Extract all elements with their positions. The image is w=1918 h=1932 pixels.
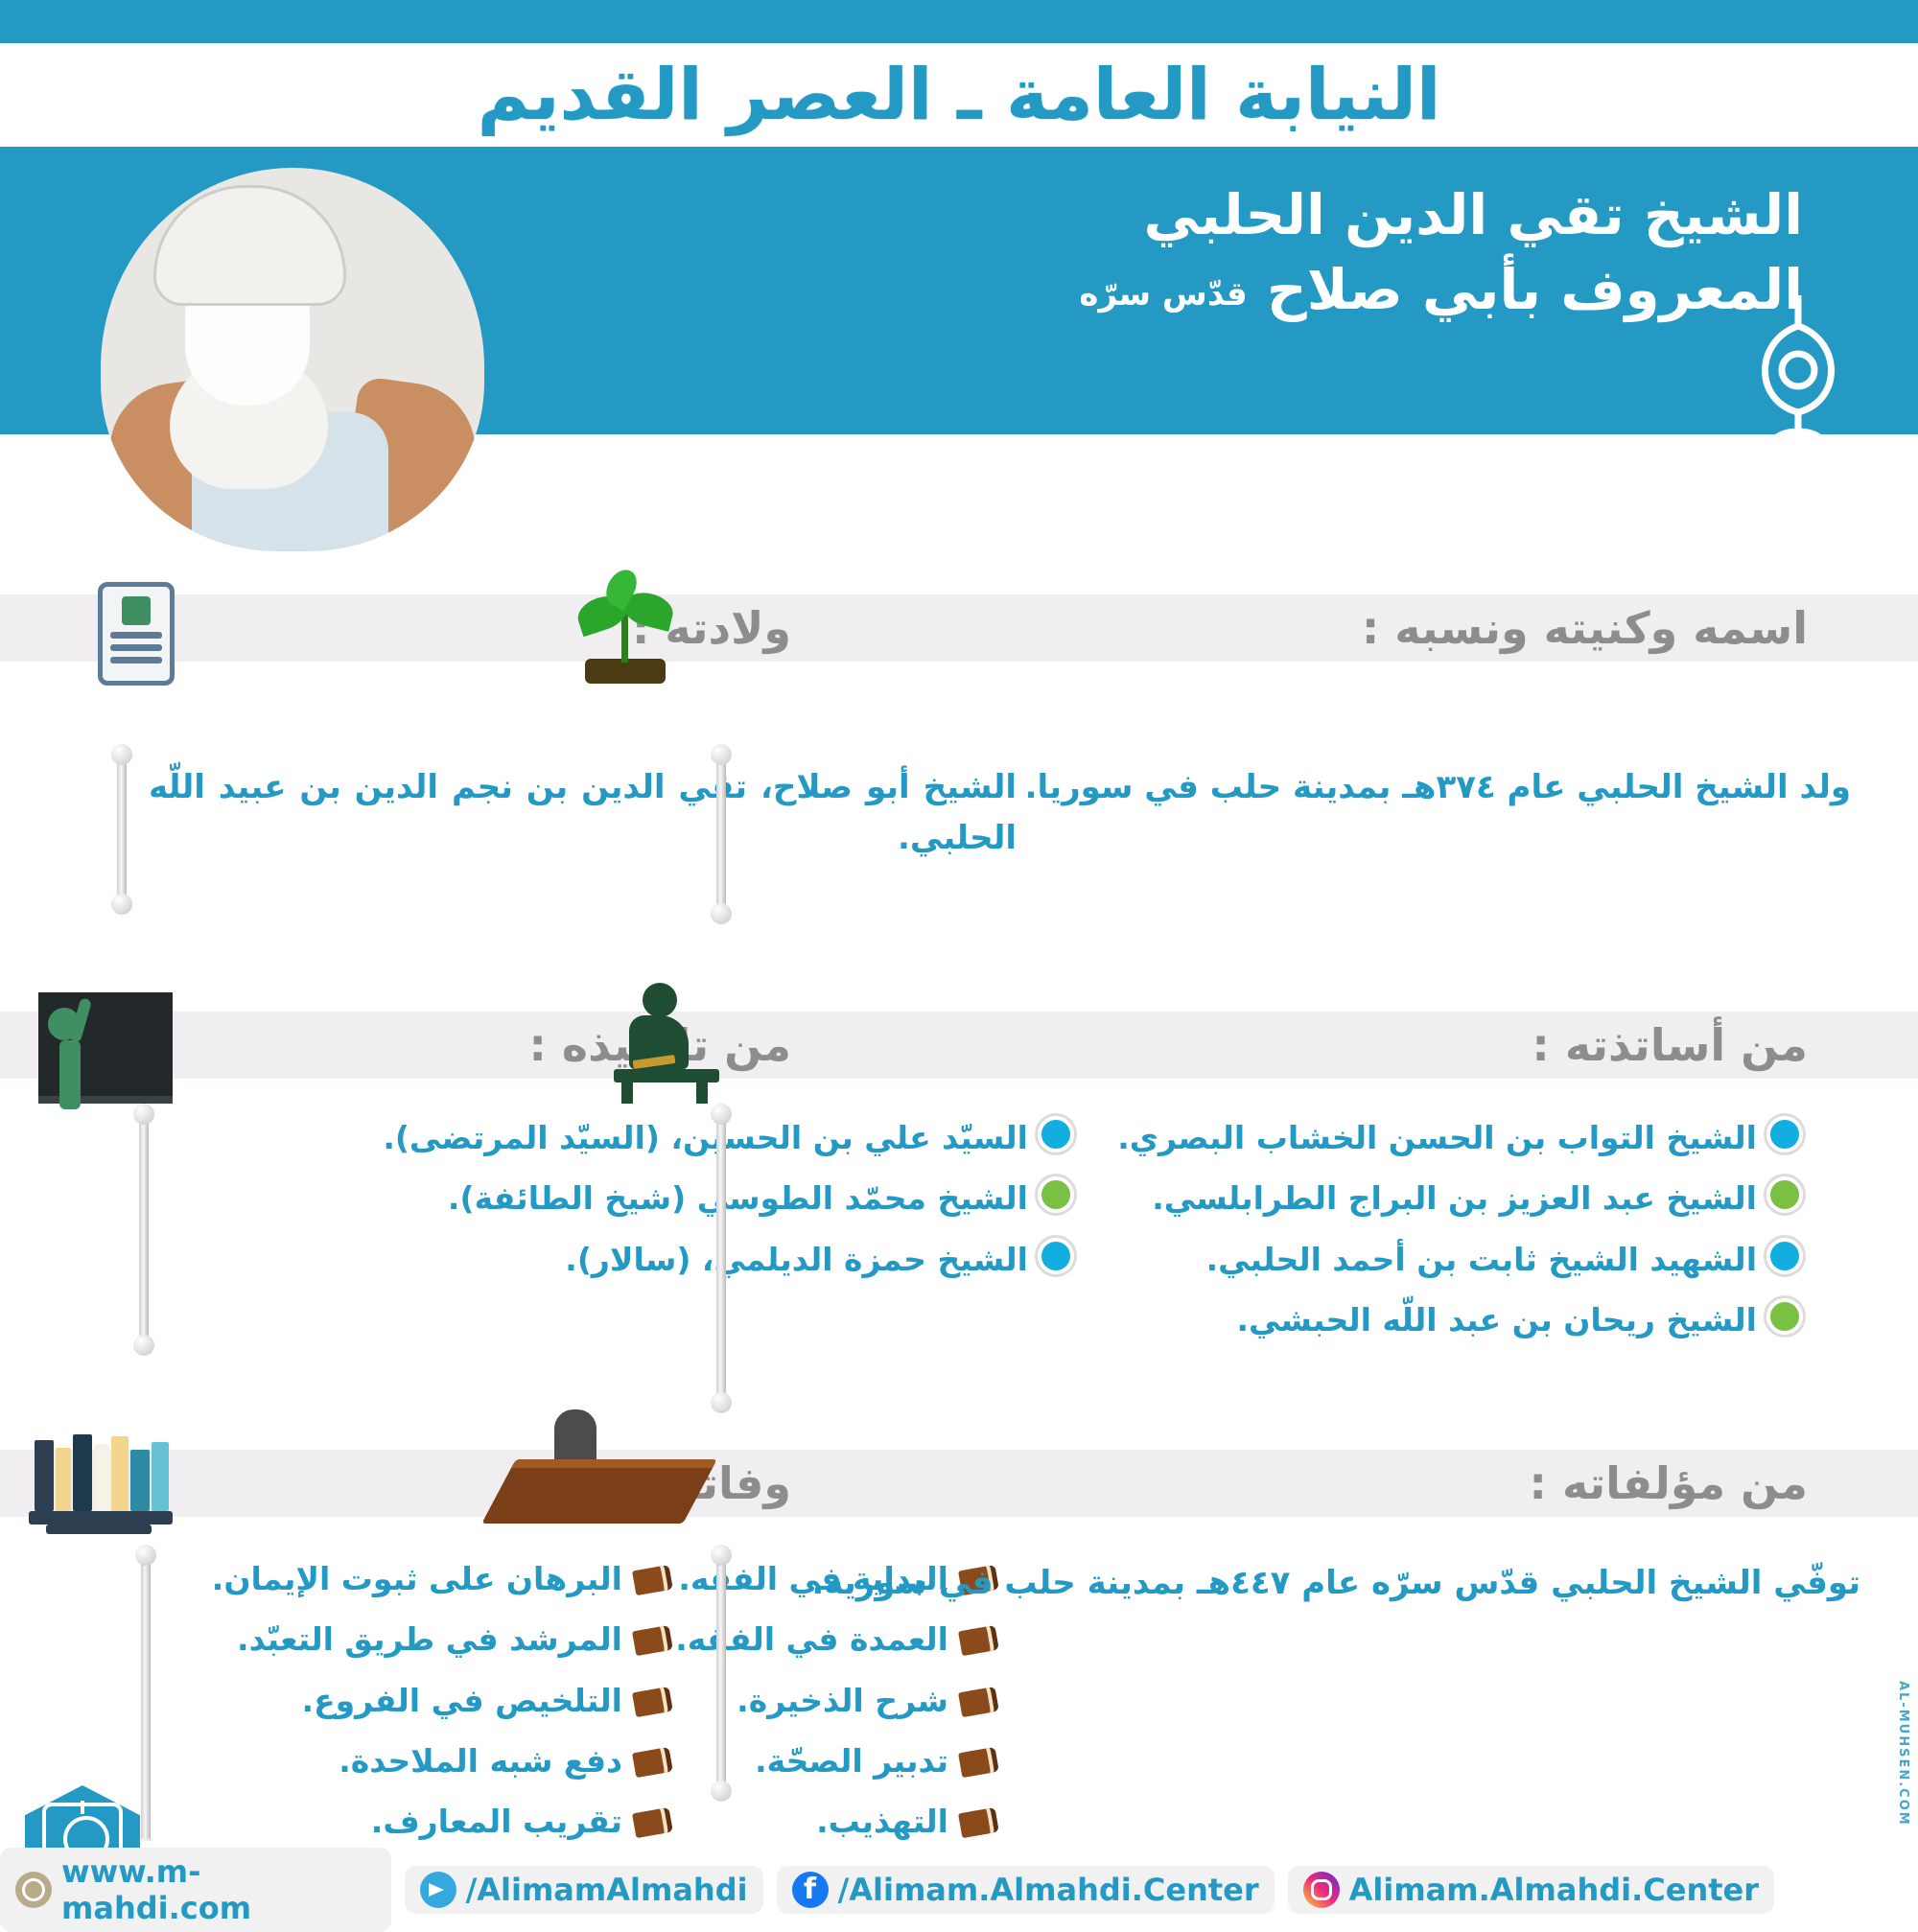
list-item-label: الشيخ ريحان بن عبد اللّه الحبشي.	[1236, 1301, 1757, 1338]
grave-icon	[499, 1409, 705, 1520]
divider-rod	[716, 757, 726, 911]
person-honorific: قدّس سرّه	[1079, 275, 1247, 314]
list-item-label: الشيخ عبد العزيز بن البراج الطرابلسي.	[1152, 1179, 1757, 1217]
book-icon	[958, 1807, 999, 1838]
logo-ray	[81, 1801, 84, 1814]
shelf-book	[35, 1440, 54, 1511]
work-item-label: تدبير الصحّة.	[755, 1742, 948, 1780]
list-item-label: الشيخ التواب بن الحسن الخشاب البصري.	[1117, 1119, 1757, 1156]
student-desk-icon	[614, 983, 724, 1107]
bullet-green-icon	[1766, 1298, 1803, 1335]
top-accent-bar	[0, 0, 1918, 43]
portrait-image	[101, 168, 484, 551]
id-card-line	[110, 632, 162, 639]
blackboard-teacher-icon	[5, 992, 173, 1103]
work-item: تدبير الصحّة.	[643, 1731, 997, 1791]
infographic-page: النيابة العامة ـ العصر القديم الشيخ تقي …	[0, 0, 1918, 1918]
work-item: العمدة في الفقه.	[643, 1609, 997, 1669]
work-item-label: دفع شبه الملاحدة.	[339, 1742, 622, 1780]
portrait-turban	[153, 185, 346, 306]
bookshelf-icon	[29, 1429, 177, 1525]
bullet-green-icon	[1766, 1176, 1803, 1213]
divider-rod	[117, 757, 127, 901]
list-item: الشيخ عبد العزيز بن البراج الطرابلسي.	[748, 1168, 1803, 1228]
globe-icon[interactable]	[15, 1872, 52, 1908]
shelf-plank	[29, 1511, 173, 1525]
section-title-works: من مؤلفاته :	[1530, 1450, 1808, 1517]
page-title: النيابة العامة ـ العصر القديم	[478, 59, 1441, 130]
divider-rod	[716, 1117, 726, 1400]
list-item: الشيخ التواب بن الحسن الخشاب البصري.	[748, 1107, 1803, 1168]
footer-link-label: /Alimam.Almahdi.Center	[838, 1872, 1259, 1908]
footer: www.m-mahdi.com/AlimamAlmahdi/Alimam.Alm…	[0, 1841, 1918, 1918]
student-desk-leg	[696, 1079, 708, 1104]
bullet-blue-icon	[1766, 1238, 1803, 1274]
person-name-line-1: الشيخ تقي الدين الحلبي	[604, 177, 1803, 252]
person-name-line-2-text: المعروف بأبي صلاح	[1267, 257, 1803, 322]
footer-link-label: Alimam.Almahdi.Center	[1349, 1872, 1759, 1908]
person-name-block: الشيخ تقي الدين الحلبي المعروف بأبي صلاح…	[527, 177, 1803, 328]
work-item-label: تقريب المعارف.	[371, 1803, 622, 1840]
shelf-book	[94, 1444, 109, 1511]
shelf-foot	[46, 1525, 152, 1534]
death-text: توفّي الشيخ الحلبي قدّس سرّه عام ٤٤٧هـ ب…	[758, 1558, 1860, 1609]
works-list-right: البرهان على ثبوت الإيمان.المرشد في طريق …	[163, 1548, 671, 1852]
teacher-body	[59, 1040, 81, 1109]
death-text-block: توفّي الشيخ الحلبي قدّس سرّه عام ٤٤٧هـ ب…	[758, 1558, 1860, 1609]
divider-rod	[139, 1117, 149, 1342]
footer-link-fb[interactable]: /Alimam.Almahdi.Centerf	[777, 1866, 1275, 1914]
footer-link-label: www.m-mahdi.com	[61, 1853, 376, 1926]
footer-links: www.m-mahdi.com/AlimamAlmahdi/Alimam.Alm…	[0, 1862, 1918, 1918]
sprout-icon	[579, 570, 671, 684]
work-item-label: البرهان على ثبوت الإيمان.	[212, 1560, 622, 1597]
section-title-name: اسمه وكنيته ونسبه :	[1362, 594, 1808, 662]
teacher-figure-icon	[48, 1008, 81, 1109]
facebook-icon[interactable]: f	[792, 1872, 829, 1908]
id-card-avatar	[122, 596, 151, 625]
instagram-icon[interactable]	[1303, 1872, 1340, 1908]
footer-link-tg[interactable]: /AlimamAlmahdi	[405, 1866, 763, 1914]
shelf-book	[56, 1448, 71, 1511]
list-item-label: الشهيد الشيخ ثابت بن أحمد الحلبي.	[1206, 1241, 1757, 1278]
divider-rod	[716, 1558, 726, 1788]
work-item: البرهان على ثبوت الإيمان.	[163, 1548, 671, 1609]
list-item: الشيخ ريحان بن عبد اللّه الحبشي.	[748, 1290, 1803, 1350]
shelf-book	[152, 1442, 169, 1511]
sprout-stem	[621, 613, 628, 663]
work-item-label: التلخيص في الفروع.	[302, 1682, 622, 1719]
ornament-icon	[1741, 288, 1856, 508]
work-item-label: شرح الذخيرة.	[737, 1682, 948, 1719]
work-item-label: المرشد في طريق التعبّد.	[237, 1620, 622, 1658]
student-head	[643, 983, 677, 1017]
book-icon	[958, 1687, 999, 1717]
birth-text-block: ولد الشيخ الحلبي عام ٣٧٤هـ بمدينة حلب في…	[758, 762, 1851, 813]
work-item-label: التهذيب.	[816, 1803, 948, 1840]
grave-slab	[481, 1459, 717, 1524]
bullet-blue-icon	[1766, 1116, 1803, 1152]
id-card-icon	[98, 582, 175, 686]
work-item: التلخيص في الفروع.	[163, 1670, 671, 1731]
shelf-book	[73, 1434, 92, 1511]
telegram-icon[interactable]	[420, 1872, 456, 1908]
work-item: دفع شبه الملاحدة.	[163, 1731, 671, 1791]
footer-link-label: /AlimamAlmahdi	[466, 1872, 748, 1908]
id-card-line	[110, 644, 162, 651]
portrait-disc	[101, 168, 484, 551]
shelf-book	[111, 1436, 129, 1511]
watermark: AL-MUHSEN.COM	[1896, 1681, 1910, 1827]
work-item: شرح الذخيرة.	[643, 1670, 997, 1731]
section-title-teachers: من أساتذته :	[1532, 1012, 1808, 1079]
book-icon	[958, 1625, 999, 1656]
grave-headstone	[554, 1409, 596, 1467]
footer-link-ig[interactable]: Alimam.Almahdi.Center	[1288, 1866, 1774, 1914]
person-name-line-2: المعروف بأبي صلاح قدّس سرّه	[604, 252, 1803, 327]
student-desk-leg	[621, 1079, 633, 1104]
birth-text: ولد الشيخ الحلبي عام ٣٧٤هـ بمدينة حلب في…	[758, 762, 1851, 813]
list-item: الشهيد الشيخ ثابت بن أحمد الحلبي.	[748, 1229, 1803, 1290]
title-strip: النيابة العامة ـ العصر القديم	[0, 43, 1918, 147]
students-list: الشيخ التواب بن الحسن الخشاب البصري.الشي…	[748, 1107, 1803, 1350]
divider-rod	[141, 1558, 151, 1846]
shelf-book	[130, 1450, 150, 1511]
book-icon	[958, 1747, 999, 1778]
id-card-line	[110, 657, 162, 663]
work-item: المرشد في طريق التعبّد.	[163, 1609, 671, 1669]
footer-link-web[interactable]: www.m-mahdi.com	[0, 1848, 391, 1932]
